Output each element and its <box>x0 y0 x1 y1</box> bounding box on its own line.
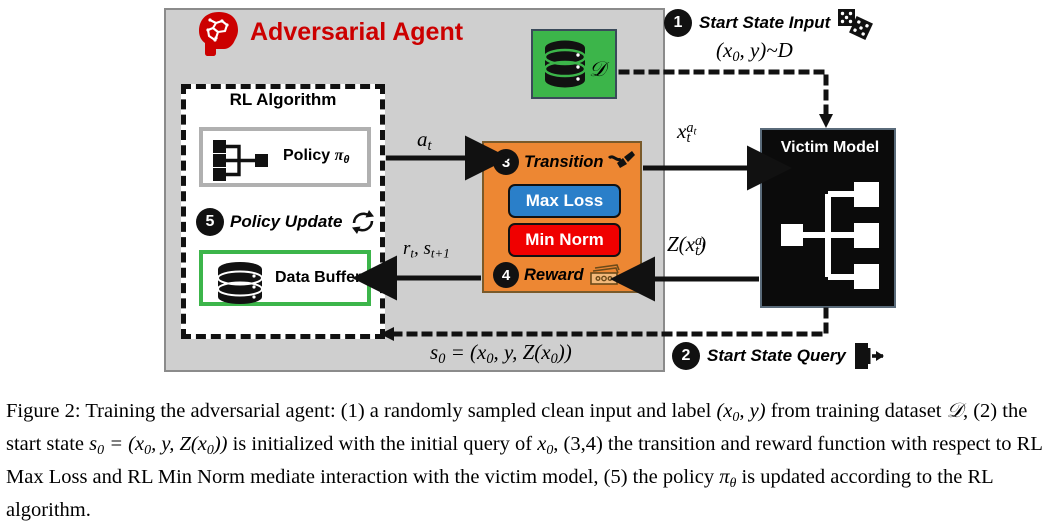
caption-line1a: Training the adversarial agent: (1) a ra… <box>81 400 717 422</box>
brain-head-icon <box>196 10 242 58</box>
database-icon <box>541 39 589 93</box>
start-state-formula: s0 = (x0, y, Z(x0)) <box>430 340 572 368</box>
refresh-cycle-icon <box>348 207 378 237</box>
step-badge-1: 1 <box>664 9 692 37</box>
reward-row: 4 Reward <box>493 262 621 288</box>
step-1-label: Start State Input <box>699 13 830 33</box>
dice-icon <box>837 8 871 38</box>
min-norm-button[interactable]: Min Norm <box>508 223 621 257</box>
step-2-label: Start State Query <box>707 346 846 366</box>
transition-reward-box: 3 Transition Max Loss Min Norm 4 Reward <box>482 141 642 293</box>
caption-math-x0: x0 <box>537 433 553 455</box>
paintbrush-icon <box>608 150 636 174</box>
step-1-row: 1 Start State Input <box>664 8 871 38</box>
policy-tree-icon <box>211 138 275 184</box>
adv-input-label: xatt <box>677 119 690 147</box>
caption-line1b: from <box>766 400 811 422</box>
dataset-box: 𝒟 <box>531 29 617 99</box>
caption-line2a: training dataset <box>816 400 947 422</box>
exit-door-icon <box>853 341 885 371</box>
transition-label: Transition <box>524 153 603 172</box>
caption-math-dataset: 𝒟 <box>947 400 963 422</box>
neural-network-icon <box>780 180 884 292</box>
transition-row: 3 Transition <box>493 149 636 175</box>
banknote-icon <box>589 264 621 286</box>
figure-caption: Figure 2: Training the adversarial agent… <box>0 398 1061 524</box>
caption-prefix: Figure 2: <box>6 400 81 422</box>
caption-math-s0: s0 = (x0, y, Z(x0)) <box>89 433 227 455</box>
policy-update-row: 5 Policy Update <box>196 207 378 237</box>
caption-line2c: is initialized with the initial query of <box>227 433 537 455</box>
reward-label: Reward <box>524 266 584 285</box>
rl-algorithm-title: RL Algorithm <box>181 90 385 110</box>
dataset-symbol: 𝒟 <box>589 57 606 82</box>
policy-update-label: Policy Update <box>230 212 342 232</box>
sample-formula: (x0, y)~D <box>716 38 793 66</box>
data-buffer-box: Data Buffer <box>199 250 371 306</box>
action-label: at <box>417 127 431 155</box>
policy-box: Policy πθ <box>199 127 371 187</box>
step-badge-3: 3 <box>493 149 519 175</box>
caption-math-x0y: (x0, y) <box>716 400 765 422</box>
figure-diagram: Adversarial Agent RL Algorithm Policy πθ… <box>0 0 1061 395</box>
step-badge-2: 2 <box>672 342 700 370</box>
victim-model-title: Victim Model <box>762 139 898 157</box>
database-icon <box>213 261 267 303</box>
agent-title: Adversarial Agent <box>250 18 463 47</box>
logits-label: Z(xatt) <box>667 232 706 260</box>
reward-state-label: rt, st+1 <box>403 238 450 262</box>
max-loss-button[interactable]: Max Loss <box>508 184 621 218</box>
step-badge-4: 4 <box>493 262 519 288</box>
policy-label: Policy πθ <box>283 147 349 166</box>
caption-line4a: interaction with the victim model, (5) t… <box>320 466 719 488</box>
step-badge-5: 5 <box>196 208 224 236</box>
step-2-row: 2 Start State Query <box>672 341 885 371</box>
data-buffer-label: Data Buffer <box>275 269 361 287</box>
caption-math-pi: πθ <box>719 466 736 488</box>
victim-model-box: Victim Model <box>760 128 896 308</box>
